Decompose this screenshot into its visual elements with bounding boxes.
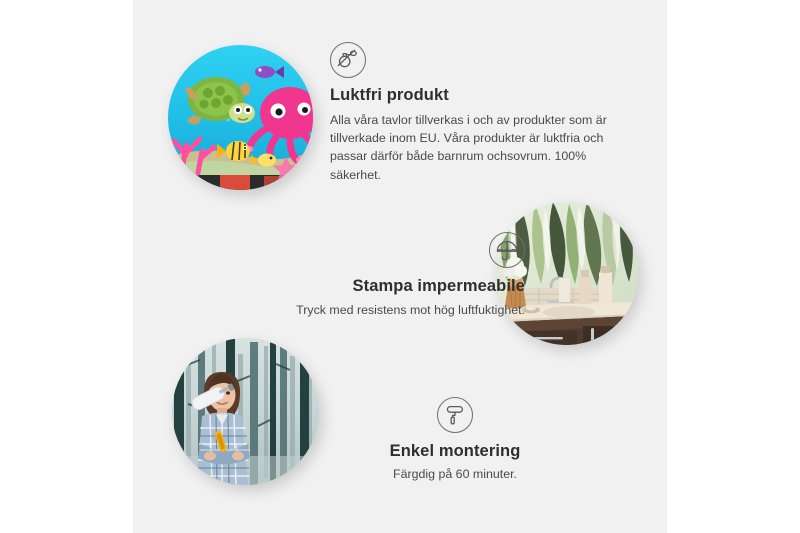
feature-odourless-icon-wrap xyxy=(330,42,625,78)
feature-mounting-title: Enkel montering xyxy=(325,441,585,462)
feature-waterproof: Stampa impermeabile Tryck med resistens … xyxy=(205,232,525,319)
feature-waterproof-icon-wrap xyxy=(205,232,525,276)
feature-waterproof-body: Tryck med resistens mot hög luftfuktighe… xyxy=(205,301,525,319)
paint-roller-icon xyxy=(437,397,473,433)
feature-odourless-title: Luktfri produkt xyxy=(330,85,625,106)
feature-waterproof-title: Stampa impermeabile xyxy=(205,276,525,297)
feature-panel: Luktfri produkt Alla våra tavlor tillver… xyxy=(133,0,667,533)
no-fragrance-icon xyxy=(330,42,366,78)
photo-underwater-cartoon-mural xyxy=(168,45,313,190)
feature-odourless: Luktfri produkt Alla våra tavlor tillver… xyxy=(330,42,625,184)
feature-mounting-icon-wrap xyxy=(325,397,585,441)
feature-mounting-body: Färgdig på 60 minuter. xyxy=(325,465,585,483)
feature-odourless-body: Alla våra tavlor tillverkas i och av pro… xyxy=(330,111,625,184)
feature-mounting: Enkel montering Färgdig på 60 minuter. xyxy=(325,397,585,483)
umbrella-icon xyxy=(489,232,525,268)
photo-woman-with-paint-roller-forest-mural xyxy=(172,338,319,485)
